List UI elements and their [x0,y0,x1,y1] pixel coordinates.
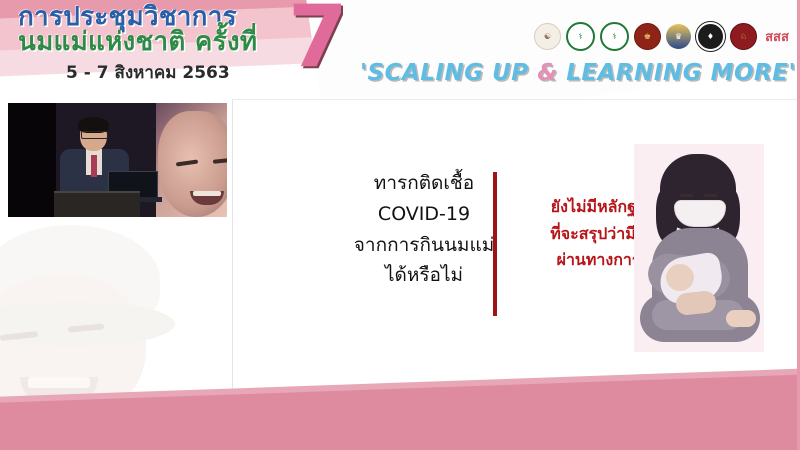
slide-screenshot: การประชุมวิชาการ นมแม่แห่งชาติ ครั้งที่ … [0,0,800,450]
speaker-tie [91,155,97,177]
slide-content-panel: ทารกติดเชื้อ COVID-19 จากการกินนมแม่ ได้… [232,99,800,400]
vertical-divider [493,172,497,316]
masked-mother-breastfeeding-illustration [634,144,764,352]
pediatric-society-logo: ♘ [730,23,757,50]
conference-edition-number: 7 [288,0,348,80]
conference-title-line-2: นมแม่แห่งชาติ ครั้งที่ [18,29,318,56]
conference-date: 5 - 7 สิงหาคม 2563 [66,59,318,86]
tagline-part-open: 'SCALING UP [360,60,537,86]
video-backdrop-left [8,103,56,217]
speaker-presentation-video[interactable] [8,103,227,217]
baby-head [666,264,694,291]
question-line-3: จากการกินนมแม่ [343,230,505,261]
conference-tagline: 'SCALING UP & LEARNING MORE' [360,60,796,86]
ministry-of-public-health-logo: ⚕ [566,22,595,51]
tagline-ampersand: & [537,60,558,86]
royal-crest-logo: ♛ [666,24,691,49]
tagline-part-close: LEARNING MORE' [558,60,796,86]
royal-seal-logo: ☯ [534,23,561,50]
nursing-council-logo: ♦ [696,22,725,51]
mother-eye-right [704,194,717,197]
question-text-block: ทารกติดเชื้อ COVID-19 จากการกินนมแม่ ได้… [343,168,505,291]
face-mask-icon [674,200,726,227]
mother-eye-left [680,194,693,197]
conference-title-block: การประชุมวิชาการ นมแม่แห่งชาติ ครั้งที่ … [18,4,318,86]
health-department-logo: ⚕ [600,22,629,51]
conference-banner: การประชุมวิชาการ นมแม่แห่งชาติ ครั้งที่ … [0,0,800,97]
projected-baby-teeth [193,191,221,196]
podium [54,191,140,217]
question-line-2: COVID-19 [343,199,505,230]
royal-college-logo: ♚ [634,23,661,50]
speaker-glasses-icon [81,131,108,139]
thaihealth-sss-logo: สสส [762,24,792,49]
mother-foot [726,310,756,327]
question-line-1: ทารกติดเชื้อ [343,168,505,199]
question-line-4: ได้หรือไม่ [343,260,505,291]
organizer-logos: ☯ ⚕ ⚕ ♚ ♛ ♦ ♘ สสส [534,22,792,51]
